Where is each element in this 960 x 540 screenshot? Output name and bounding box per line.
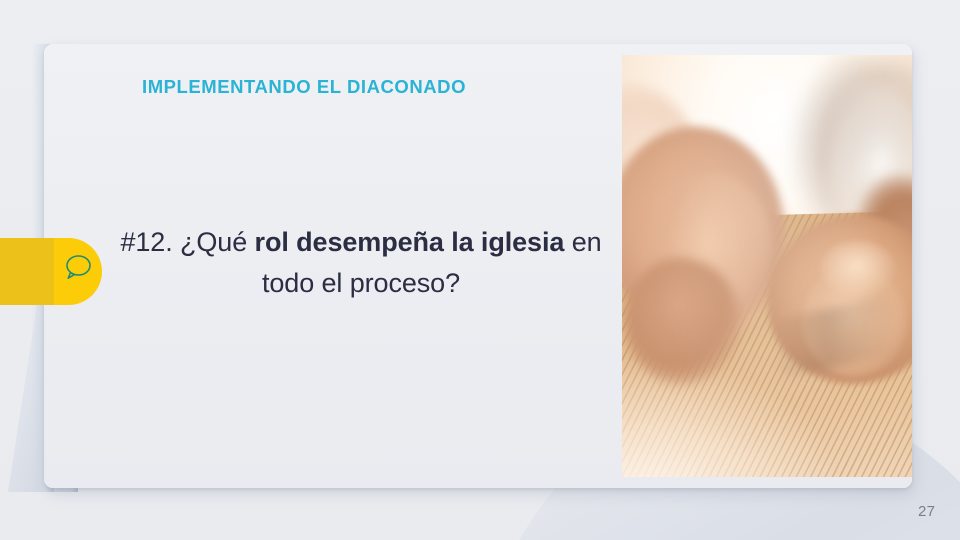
presentation-slide: IMPLEMENTANDO EL DIACONADO #12. ¿Qué rol… <box>0 0 960 540</box>
speech-bubble-icon <box>62 252 94 282</box>
question-emphasis: rol desempeña la iglesia <box>255 227 565 257</box>
accent-badge-shadow-overlay <box>0 238 54 305</box>
slide-title: IMPLEMENTANDO EL DIACONADO <box>142 76 466 98</box>
slide-card: IMPLEMENTANDO EL DIACONADO #12. ¿Qué rol… <box>44 44 912 488</box>
slide-image-frame <box>622 55 912 477</box>
photo-vignette <box>622 55 912 477</box>
question-text: #12. ¿Qué rol desempeña la iglesia en to… <box>116 222 606 304</box>
page-number: 27 <box>918 503 935 520</box>
question-prefix: #12. ¿Qué <box>120 227 254 257</box>
clasped-hands-photo <box>622 55 912 477</box>
